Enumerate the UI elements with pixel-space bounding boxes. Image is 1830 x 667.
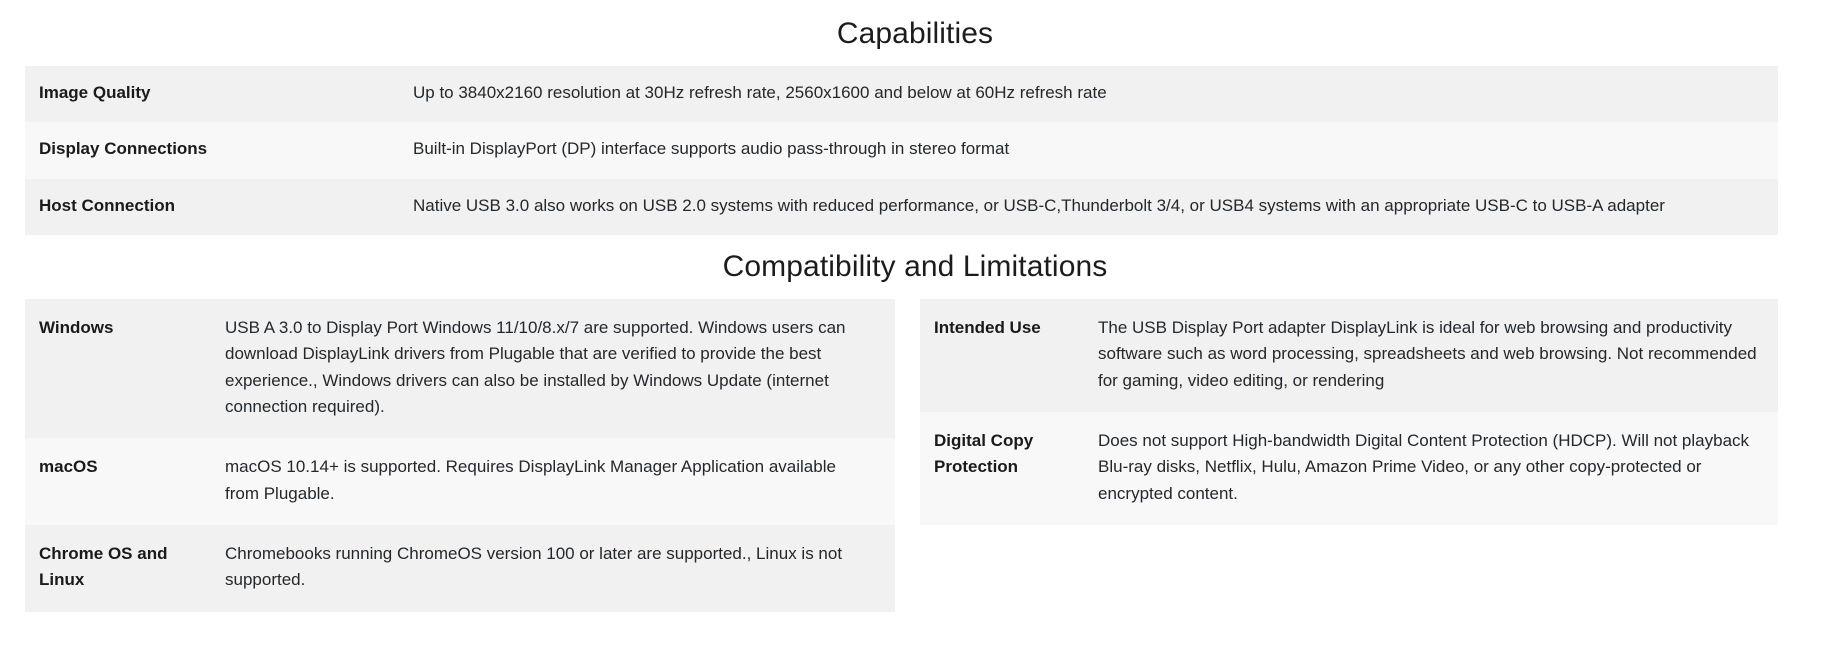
capabilities-row-value: Built-in DisplayPort (DP) interface supp… xyxy=(399,122,1778,178)
capabilities-row-label: Host Connection xyxy=(25,179,399,235)
table-row: macOS macOS 10.14+ is supported. Require… xyxy=(25,438,895,525)
capabilities-row-value: Native USB 3.0 also works on USB 2.0 sys… xyxy=(399,179,1778,235)
capabilities-row-label: Display Connections xyxy=(25,122,399,178)
capabilities-table: Image Quality Up to 3840x2160 resolution… xyxy=(25,66,1778,235)
compatibility-right-column: Intended Use The USB Display Port adapte… xyxy=(920,299,1778,525)
table-row: Host Connection Native USB 3.0 also work… xyxy=(25,179,1778,235)
capabilities-row-value: Up to 3840x2160 resolution at 30Hz refre… xyxy=(399,66,1778,122)
product-spec-page: Capabilities Image Quality Up to 3840x21… xyxy=(0,0,1830,667)
compatibility-row-value: macOS 10.14+ is supported. Requires Disp… xyxy=(225,438,895,525)
limitations-table: Intended Use The USB Display Port adapte… xyxy=(920,299,1778,525)
compatibility-section-heading: Compatibility and Limitations xyxy=(0,235,1830,285)
table-row: Digital Copy Protection Does not support… xyxy=(920,412,1778,525)
table-row: Chrome OS and Linux Chromebooks running … xyxy=(25,525,895,612)
table-row: Intended Use The USB Display Port adapte… xyxy=(920,299,1778,412)
table-row: Windows USB A 3.0 to Display Port Window… xyxy=(25,299,895,438)
table-row: Image Quality Up to 3840x2160 resolution… xyxy=(25,66,1778,122)
limitations-row-value: The USB Display Port adapter DisplayLink… xyxy=(1098,299,1778,412)
compatibility-row-value: Chromebooks running ChromeOS version 100… xyxy=(225,525,895,612)
compatibility-tables-wrapper: Windows USB A 3.0 to Display Port Window… xyxy=(25,299,1778,612)
compatibility-row-label: Chrome OS and Linux xyxy=(25,525,225,612)
capabilities-row-label: Image Quality xyxy=(25,66,399,122)
compatibility-row-label: macOS xyxy=(25,438,225,525)
compatibility-row-label: Windows xyxy=(25,299,225,438)
compatibility-row-value: USB A 3.0 to Display Port Windows 11/10/… xyxy=(225,299,895,438)
compatibility-os-table: Windows USB A 3.0 to Display Port Window… xyxy=(25,299,895,612)
capabilities-section-heading: Capabilities xyxy=(0,0,1830,52)
compatibility-left-column: Windows USB A 3.0 to Display Port Window… xyxy=(25,299,895,612)
table-row: Display Connections Built-in DisplayPort… xyxy=(25,122,1778,178)
capabilities-table-wrapper: Image Quality Up to 3840x2160 resolution… xyxy=(25,66,1778,235)
limitations-row-value: Does not support High-bandwidth Digital … xyxy=(1098,412,1778,525)
limitations-row-label: Intended Use xyxy=(920,299,1098,412)
limitations-row-label: Digital Copy Protection xyxy=(920,412,1098,525)
